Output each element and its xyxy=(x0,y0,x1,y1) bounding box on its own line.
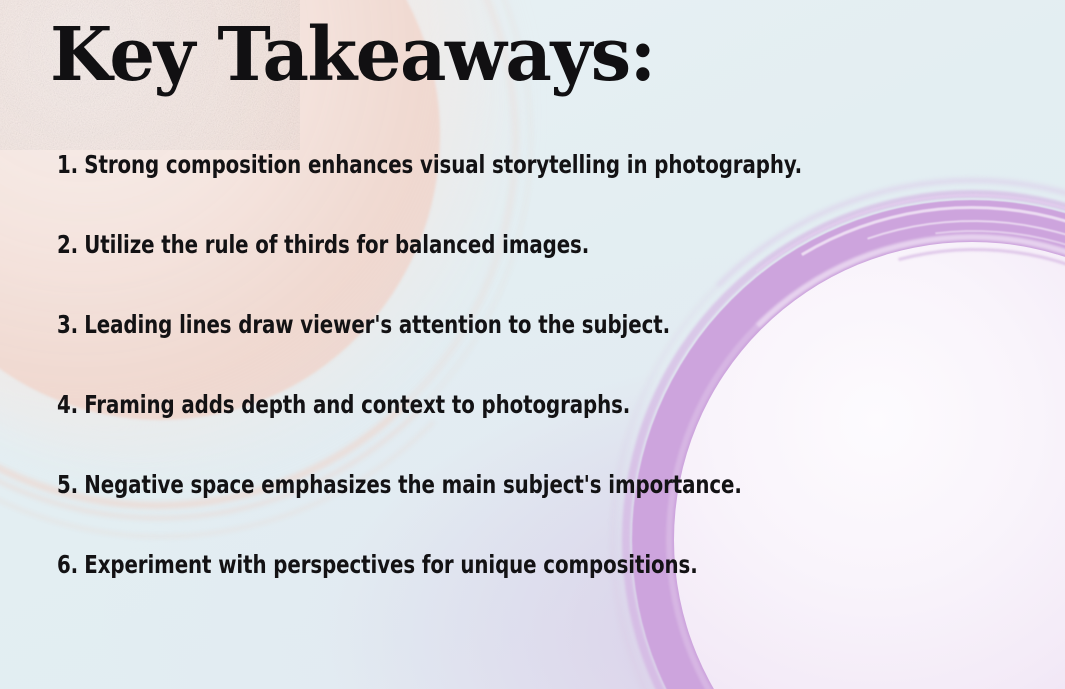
list-item: 6. Experiment with perspectives for uniq… xyxy=(57,552,831,632)
list-item-text: Experiment with perspectives for unique … xyxy=(84,552,697,577)
list-item-number: 3. xyxy=(57,312,78,337)
list-item-number: 6. xyxy=(57,552,78,577)
list-item-text: Leading lines draw viewer's attention to… xyxy=(84,312,670,337)
list-item: 2. Utilize the rule of thirds for balanc… xyxy=(57,232,831,312)
list-item: 4. Framing adds depth and context to pho… xyxy=(57,392,831,472)
list-item-text: Negative space emphasizes the main subje… xyxy=(84,472,742,497)
list-item-text: Utilize the rule of thirds for balanced … xyxy=(84,232,589,257)
key-takeaways-poster: Key Takeaways: 1. Strong composition enh… xyxy=(0,0,1065,689)
poster-content: Key Takeaways: 1. Strong composition enh… xyxy=(0,0,1065,689)
page-title: Key Takeaways: xyxy=(50,16,655,96)
list-item-text: Framing adds depth and context to photog… xyxy=(84,392,630,417)
list-item-text: Strong composition enhances visual story… xyxy=(84,152,802,177)
list-item-number: 5. xyxy=(57,472,78,497)
list-item-number: 2. xyxy=(57,232,78,257)
list-item-number: 1. xyxy=(57,152,78,177)
list-item: 3. Leading lines draw viewer's attention… xyxy=(57,312,831,392)
list-item-number: 4. xyxy=(57,392,78,417)
takeaway-list: 1. Strong composition enhances visual st… xyxy=(57,152,937,632)
list-item: 5. Negative space emphasizes the main su… xyxy=(57,472,831,552)
list-item: 1. Strong composition enhances visual st… xyxy=(57,152,831,232)
